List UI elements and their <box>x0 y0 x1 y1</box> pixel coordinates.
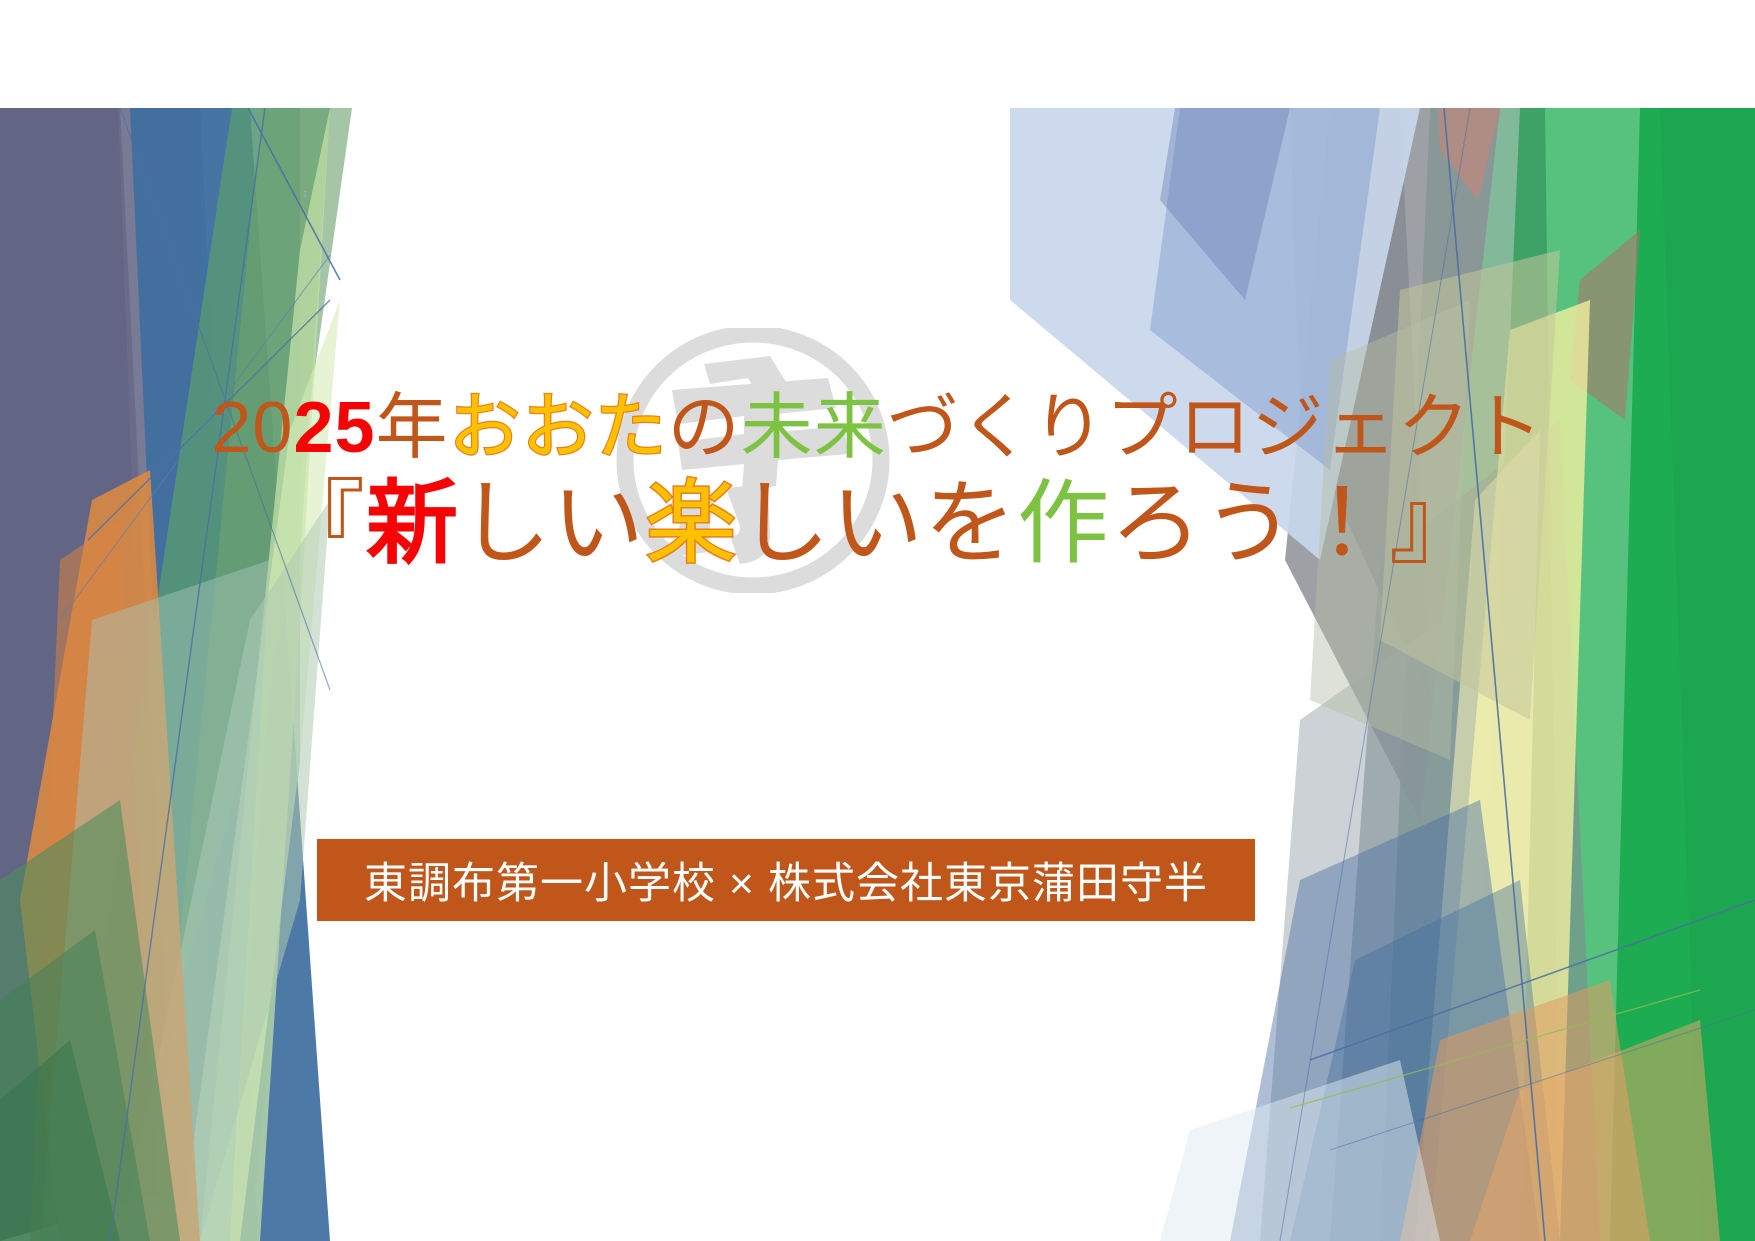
partners-banner-text: 東調布第一小学校 × 株式会社東京蒲田守半 <box>364 849 1208 911</box>
title-run-zukuri-project: づくりプロジェクト <box>887 388 1544 468</box>
title-run-25: 25 <box>293 388 375 468</box>
title-run-oota: おおた <box>449 388 668 468</box>
title-run-nen: 年 <box>376 388 449 468</box>
partners-banner: 東調布第一小学校 × 株式会社東京蒲田守半 <box>317 839 1255 921</box>
title-run-2020: 20 <box>211 388 293 468</box>
title-run-tanoshii-kanji: 楽 <box>645 473 738 575</box>
slide-title: 2025年おおたの未来づくりプロジェクト 『新しい楽しいを作ろう！』 <box>0 392 1755 570</box>
title-run-shii-wo: しいを <box>738 473 1017 575</box>
title-run-open-bracket: 『 <box>273 473 366 575</box>
title-run-shii-1: しい <box>459 473 645 575</box>
title-line-1: 2025年おおたの未来づくりプロジェクト <box>0 392 1755 464</box>
title-run-atarashii-kanji: 新 <box>366 473 459 575</box>
facet-background-art <box>0 0 1755 1241</box>
title-line-2: 『新しい楽しいを作ろう！』 <box>0 478 1755 570</box>
title-run-rou-close: ろう！』 <box>1110 473 1482 575</box>
title-run-no: の <box>668 388 741 468</box>
stray-text-mark: ɪ <box>303 188 307 200</box>
bg-left-shapes <box>0 108 352 1241</box>
title-run-tsukuru-kanji: 作 <box>1017 473 1110 575</box>
title-run-mirai: 未来 <box>741 388 887 468</box>
presentation-slide: ɪ 2025年おおたの未来づくりプロジェクト 『新しい楽しいを作ろう！』 東調布… <box>0 0 1755 1241</box>
